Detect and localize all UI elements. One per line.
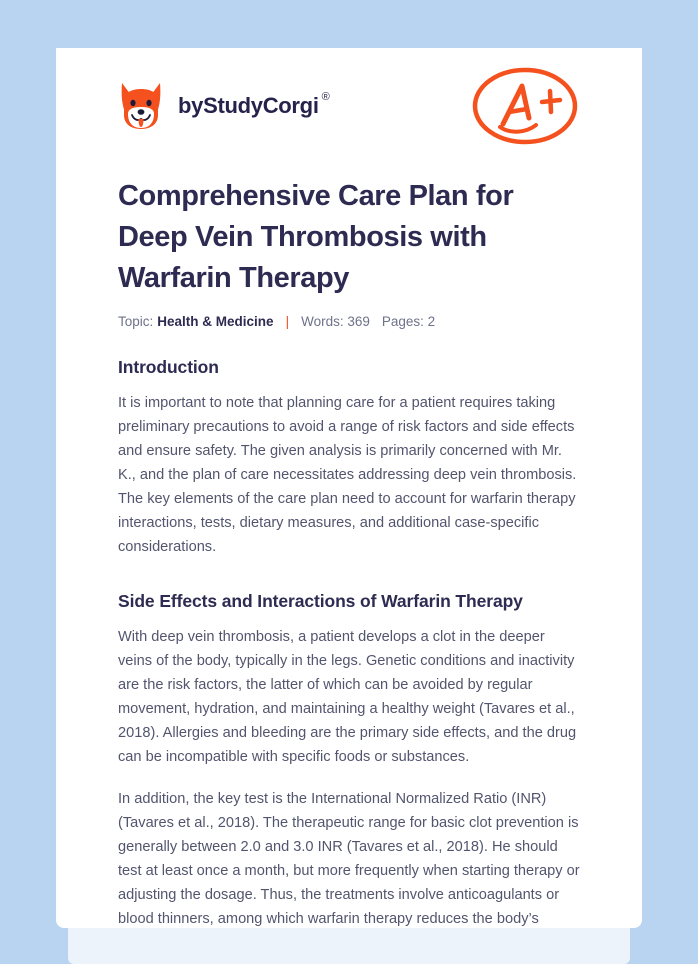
page-title: Comprehensive Care Plan for Deep Vein Th…	[118, 176, 580, 299]
document-header: by StudyCorgi®	[118, 48, 580, 158]
a-plus-grade-badge-icon	[470, 62, 580, 150]
page-viewport: by StudyCorgi® Comprehensive Care Plan f…	[0, 0, 698, 964]
document-meta: Topic: Health & Medicine | Words: 369 Pa…	[118, 313, 580, 331]
corgi-logo-icon	[118, 81, 164, 131]
brand-name-text: by StudyCorgi®	[178, 93, 329, 119]
section-heading-introduction: Introduction	[118, 355, 580, 379]
document-body: Introduction It is important to note tha…	[118, 355, 580, 928]
paragraph: With deep vein thrombosis, a patient dev…	[118, 625, 580, 769]
meta-separator: |	[286, 313, 290, 331]
meta-topic-label: Topic:	[118, 313, 153, 331]
document-page: by StudyCorgi® Comprehensive Care Plan f…	[56, 48, 642, 928]
meta-page-count: Pages: 2	[382, 313, 435, 331]
brand-lockup[interactable]: by StudyCorgi®	[118, 81, 329, 131]
paragraph: In addition, the key test is the Interna…	[118, 787, 580, 928]
brand-prefix: by	[178, 93, 203, 119]
registered-trademark-icon: ®	[322, 91, 330, 103]
section-heading-side-effects: Side Effects and Interactions of Warfari…	[118, 589, 580, 613]
paragraph: It is important to note that planning ca…	[118, 391, 580, 559]
brand-label: StudyCorgi	[203, 93, 319, 119]
meta-word-count: Words: 369	[301, 313, 370, 331]
meta-topic-value[interactable]: Health & Medicine	[157, 313, 273, 331]
